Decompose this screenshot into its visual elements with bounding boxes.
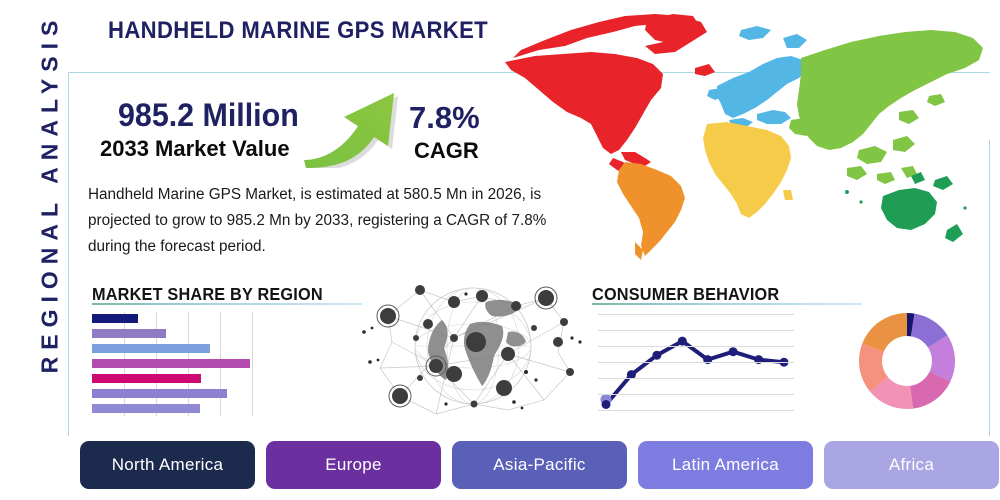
gridline [598, 346, 794, 347]
bar [92, 344, 210, 353]
world-map-icon [495, 2, 995, 274]
gridline [598, 330, 794, 331]
cagr-label: CAGR [414, 138, 479, 164]
line-series [598, 312, 794, 416]
infographic-canvas: REGIONAL ANALYSIS HANDHELD MARINE GPS MA… [0, 0, 1000, 500]
bar [92, 404, 200, 413]
bar [92, 329, 166, 338]
market-value-label: 2033 Market Value [100, 136, 290, 162]
gridline [252, 312, 253, 416]
section-heading-consumer-behavior: CONSUMER BEHAVIOR [592, 284, 779, 305]
section-heading-market-share: MARKET SHARE BY REGION [92, 284, 323, 305]
cagr-number: 7.8% [409, 100, 480, 136]
region-tab-asia-pacific[interactable]: Asia-Pacific [452, 441, 627, 489]
region-tab-label: North America [112, 455, 224, 475]
section-rule-market-share [92, 303, 362, 305]
donut-chart [856, 310, 958, 412]
region-tab-europe[interactable]: Europe [266, 441, 441, 489]
region-tab-latin-america[interactable]: Latin America [638, 441, 813, 489]
gridline [598, 362, 794, 363]
region-tab-africa[interactable]: Africa [824, 441, 999, 489]
section-rule-consumer-behavior [592, 303, 862, 305]
region-tab-label: Europe [325, 455, 382, 475]
global-network-globe-icon [358, 276, 588, 424]
page-title: HANDHELD MARINE GPS MARKET [108, 17, 488, 45]
region-tab-label: Asia-Pacific [493, 455, 585, 475]
bar [92, 389, 227, 398]
region-tab-label: Africa [889, 455, 934, 475]
market-value-number: 985.2 Million [118, 97, 299, 134]
bar [92, 359, 250, 368]
bar [92, 374, 201, 383]
gridline [598, 394, 794, 395]
bar [92, 314, 138, 323]
gridline [598, 410, 794, 411]
consumer-behavior-line-chart [598, 312, 794, 416]
side-label: REGIONAL ANALYSIS [37, 0, 64, 394]
growth-arrow-up-icon [300, 86, 410, 168]
region-tabs: North AmericaEuropeAsia-PacificLatin Ame… [80, 441, 999, 489]
market-share-bar-chart [92, 312, 292, 416]
region-tab-north-america[interactable]: North America [80, 441, 255, 489]
gridline [598, 314, 794, 315]
region-tab-label: Latin America [672, 455, 779, 475]
gridline [598, 378, 794, 379]
